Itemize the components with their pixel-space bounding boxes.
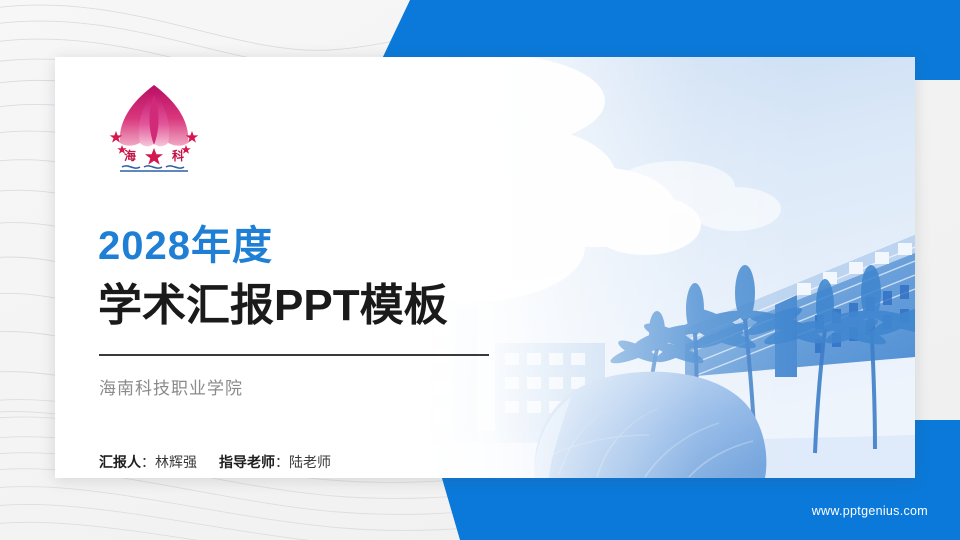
website-url[interactable]: www.pptgenius.com <box>812 504 928 518</box>
school-name: 海南科技职业学院 <box>99 374 243 399</box>
presenter-label: 汇报人 <box>99 454 141 470</box>
presenter-line: 汇报人：林辉强指导老师：陆老师 <box>99 452 331 472</box>
advisor-separator: ： <box>275 454 289 470</box>
title-divider <box>99 354 489 356</box>
svg-text:科: 科 <box>172 148 184 163</box>
hainan-college-emblem-logo: 海 科 <box>100 77 208 175</box>
svg-text:海: 海 <box>124 148 136 163</box>
presenter-name: 林辉强 <box>155 454 197 470</box>
advisor-label: 指导老师 <box>219 454 275 470</box>
year-heading: 2028年度 <box>98 226 273 266</box>
advisor-name: 陆老师 <box>289 454 331 470</box>
presenter-separator: ： <box>141 454 155 470</box>
cover-card: 海 科 2028年度 学术汇报PPT模板 海南科技职业学院 汇报人：林辉强指导老… <box>55 57 915 478</box>
page-title: 学术汇报PPT模板 <box>98 284 448 328</box>
